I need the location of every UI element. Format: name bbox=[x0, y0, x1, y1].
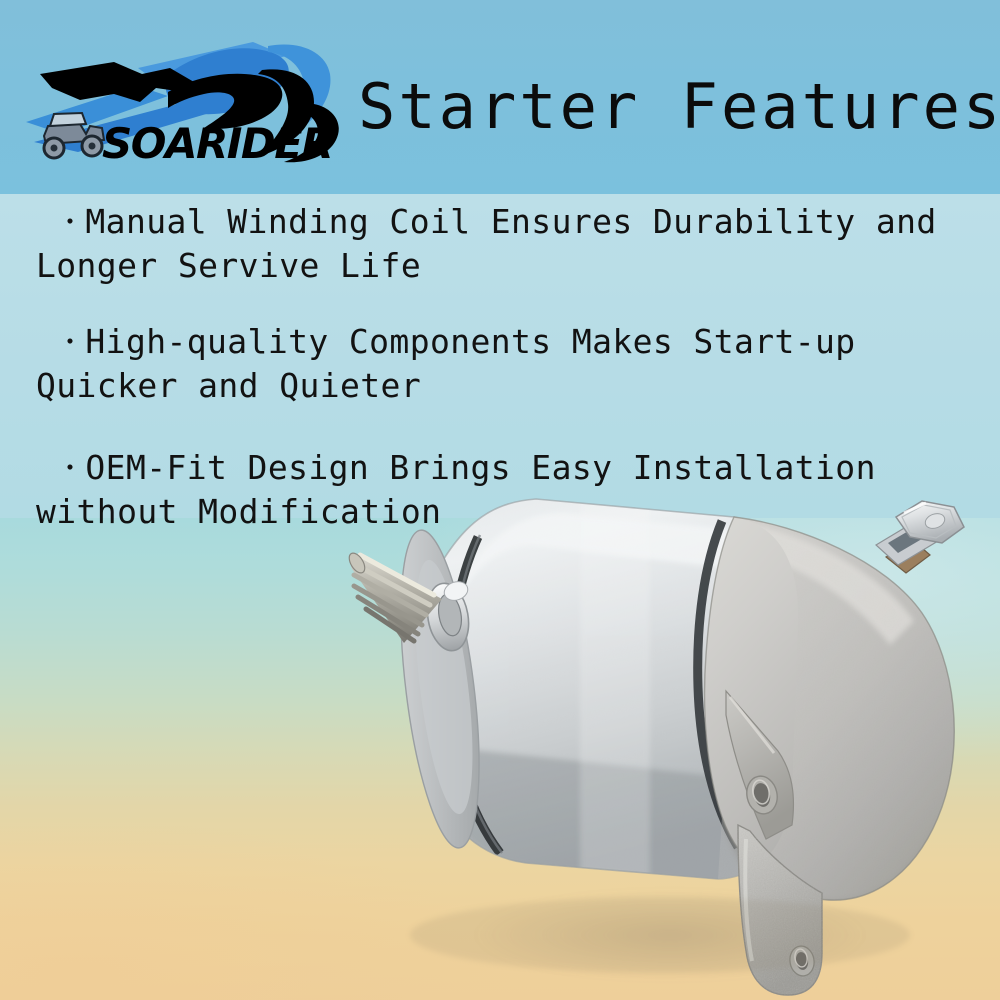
page-title: Starter Features bbox=[358, 62, 998, 152]
bullet-icon: ・ bbox=[58, 454, 85, 482]
feature-1-line2: Quicker and Quieter bbox=[36, 364, 976, 408]
product-photo bbox=[330, 495, 1000, 1000]
feature-1-line1: ・High-quality Components Makes Start-up bbox=[36, 320, 976, 364]
starter-motor-illustration bbox=[330, 495, 1000, 1000]
feature-0-line2: Longer Servive Life bbox=[36, 244, 976, 288]
bullet-icon: ・ bbox=[58, 208, 85, 236]
feature-1-text1: High-quality Components Makes Start-up bbox=[85, 322, 855, 361]
bullet-icon: ・ bbox=[58, 328, 85, 356]
feature-item-0: ・Manual Winding Coil Ensures Durability … bbox=[36, 200, 976, 288]
terminal-post-assembly bbox=[876, 501, 964, 573]
feature-0-text1: Manual Winding Coil Ensures Durability a… bbox=[85, 202, 936, 241]
feature-0-line1: ・Manual Winding Coil Ensures Durability … bbox=[36, 200, 976, 244]
feature-item-1: ・High-quality Components Makes Start-up … bbox=[36, 320, 976, 408]
feature-2-text1: OEM-Fit Design Brings Easy Installation bbox=[85, 448, 875, 487]
product-feature-image: SOARIDER Starter Features ・Manual Windin… bbox=[0, 0, 1000, 1000]
feature-2-line1: ・OEM-Fit Design Brings Easy Installation bbox=[36, 446, 976, 490]
motor-ground-shadow bbox=[410, 897, 910, 973]
soarider-logo: SOARIDER bbox=[18, 30, 358, 170]
soarider-logo-svg: SOARIDER bbox=[18, 30, 358, 170]
